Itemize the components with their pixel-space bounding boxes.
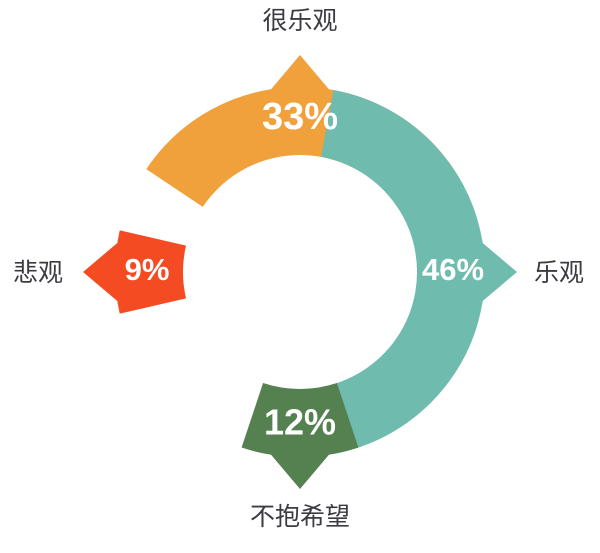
category-label-no-hope: 不抱希望 bbox=[0, 505, 600, 530]
segment-value-optimistic: 46% bbox=[422, 252, 484, 287]
donut-segment-optimistic[interactable] bbox=[321, 90, 517, 454]
donut-chart: 33% 46% 12% 9% 很乐观 乐观 不抱希望 悲观 bbox=[0, 0, 600, 553]
category-label-very-optimistic: 很乐观 bbox=[0, 9, 600, 34]
segment-value-very-optimistic: 33% bbox=[262, 96, 338, 138]
category-label-optimistic: 乐观 bbox=[534, 261, 584, 286]
segment-value-pessimistic: 9% bbox=[125, 252, 170, 287]
segment-value-no-hope: 12% bbox=[264, 402, 336, 443]
category-label-pessimistic: 悲观 bbox=[13, 261, 63, 286]
donut-chart-svg: 33% 46% 12% 9% bbox=[0, 0, 600, 553]
